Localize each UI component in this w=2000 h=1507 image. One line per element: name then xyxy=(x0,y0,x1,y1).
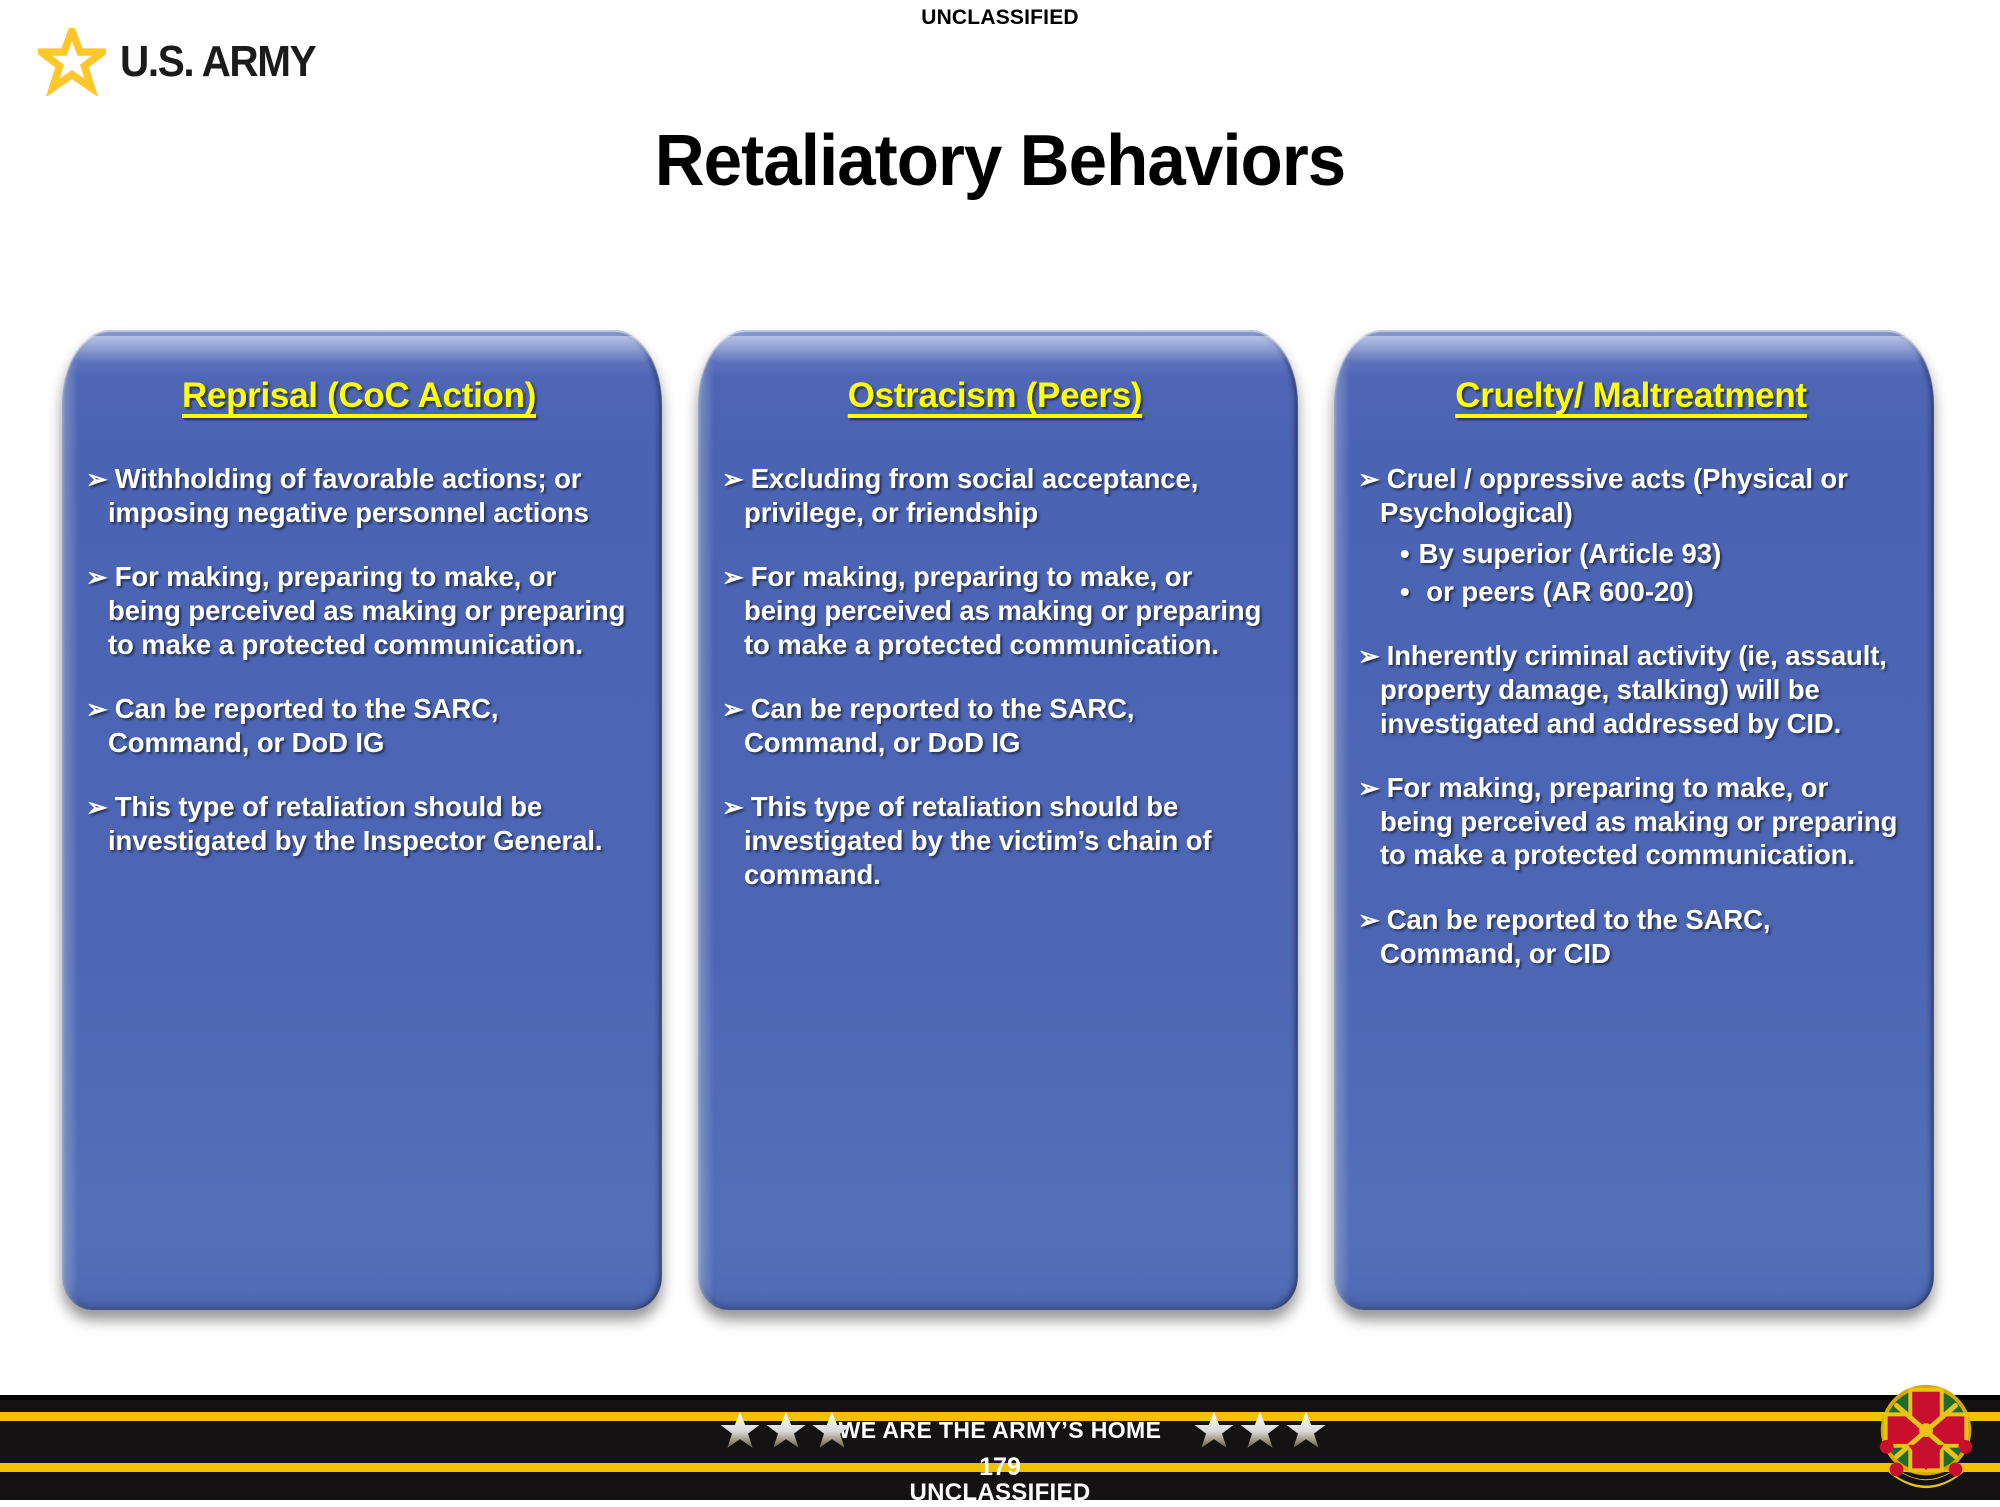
bullet-text: Can be reported to the SARC, Command, or… xyxy=(1380,904,1770,969)
arrow-bullet-icon: ➢ xyxy=(1358,905,1387,935)
list-item: ➢Inherently criminal activity (ie, assau… xyxy=(1358,639,1904,740)
arrow-bullet-icon: ➢ xyxy=(86,562,115,592)
bullet-text: This type of retaliation should be inves… xyxy=(744,791,1211,889)
panel-reprisal: Reprisal (CoC Action) ➢Withholding of fa… xyxy=(62,330,662,1310)
bullet-text: This type of retaliation should be inves… xyxy=(108,791,602,856)
classification-banner-top: UNCLASSIFIED xyxy=(0,6,2000,30)
arrow-bullet-icon: ➢ xyxy=(86,792,115,822)
list-item: ➢Can be reported to the SARC, Command, o… xyxy=(722,692,1268,759)
bullet-list-reprisal: ➢Withholding of favorable actions; or im… xyxy=(86,462,632,858)
arrow-bullet-icon: ➢ xyxy=(86,694,115,724)
list-item: ➢Can be reported to the SARC, Command, o… xyxy=(86,692,632,759)
panel-title-reprisal: Reprisal (CoC Action) xyxy=(86,376,632,416)
footer-band: WE ARE THE ARMY’S HOME 179 UNCLASSIFIED xyxy=(0,1395,2000,1500)
list-item: ➢Cruel / oppressive acts (Physical or Ps… xyxy=(1358,462,1904,529)
bullet-text: Can be reported to the SARC, Command, or… xyxy=(108,693,498,758)
panel-ostracism: Ostracism (Peers) ➢Excluding from social… xyxy=(698,330,1298,1310)
list-item: ➢Withholding of favorable actions; or im… xyxy=(86,462,632,529)
star-icon xyxy=(764,1409,808,1453)
dot-bullet-icon: • xyxy=(1400,538,1419,569)
bullet-list-ostracism: ➢Excluding from social acceptance, privi… xyxy=(722,462,1268,891)
panel-cruelty-maltreatment: Cruelty/ Maltreatment ➢Cruel / oppressiv… xyxy=(1334,330,1934,1310)
sub-list-item: •By superior (Article 93) xyxy=(1400,537,1904,571)
panels-container: Reprisal (CoC Action) ➢Withholding of fa… xyxy=(62,330,1942,1310)
panel-title-cruelty-maltreatment: Cruelty/ Maltreatment xyxy=(1358,376,1904,416)
page-title: Retaliatory Behaviors xyxy=(40,120,1960,202)
list-item: ➢For making, preparing to make, or being… xyxy=(1358,771,1904,872)
slide-number: 179 xyxy=(0,1453,2000,1482)
arrow-bullet-icon: ➢ xyxy=(1358,773,1387,803)
list-item: ➢This type of retaliation should be inve… xyxy=(722,790,1268,891)
arrow-bullet-icon: ➢ xyxy=(722,694,751,724)
bullet-text: Inherently criminal activity (ie, assaul… xyxy=(1380,640,1887,738)
star-icon xyxy=(718,1409,762,1453)
footer-stars-left xyxy=(718,1409,854,1453)
sub-bullet-text: By superior (Article 93) xyxy=(1419,538,1722,569)
arrow-bullet-icon: ➢ xyxy=(1358,641,1387,671)
bullet-text: Can be reported to the SARC, Command, or… xyxy=(744,693,1134,758)
dot-bullet-icon: • xyxy=(1400,576,1419,607)
arrow-bullet-icon: ➢ xyxy=(722,464,751,494)
bullet-text: For making, preparing to make, or being … xyxy=(1380,772,1897,870)
star-icon xyxy=(1192,1409,1236,1453)
bullet-list-cruelty: ➢Cruel / oppressive acts (Physical or Ps… xyxy=(1358,462,1904,970)
list-item: ➢Can be reported to the SARC, Command, o… xyxy=(1358,903,1904,970)
star-icon xyxy=(810,1409,854,1453)
classification-banner-bottom: UNCLASSIFIED xyxy=(0,1479,2000,1507)
sub-list-item: • or peers (AR 600-20) xyxy=(1400,575,1904,609)
army-logo: U.S. ARMY xyxy=(38,28,332,96)
list-item: ➢Excluding from social acceptance, privi… xyxy=(722,462,1268,529)
bullet-text: Cruel / oppressive acts (Physical or Psy… xyxy=(1380,463,1848,528)
army-wordmark: U.S. ARMY xyxy=(120,37,315,87)
bullet-text: Excluding from social acceptance, privil… xyxy=(744,463,1198,528)
star-icon xyxy=(1284,1409,1328,1453)
bullet-text: For making, preparing to make, or being … xyxy=(744,561,1261,659)
army-star-icon xyxy=(38,28,106,96)
bullet-text: Withholding of favorable actions; or imp… xyxy=(108,463,589,528)
footer-top-edge xyxy=(0,1395,2000,1400)
arrow-bullet-icon: ➢ xyxy=(1358,464,1387,494)
arrow-bullet-icon: ➢ xyxy=(722,562,751,592)
sub-bullet-text: or peers (AR 600-20) xyxy=(1419,576,1694,607)
list-item: ➢For making, preparing to make, or being… xyxy=(86,560,632,661)
arrow-bullet-icon: ➢ xyxy=(722,792,751,822)
list-item: ➢For making, preparing to make, or being… xyxy=(722,560,1268,661)
arrow-bullet-icon: ➢ xyxy=(86,464,115,494)
footer-stars-right xyxy=(1192,1409,1328,1453)
imcom-crest-icon xyxy=(1866,1376,1986,1494)
list-item: ➢This type of retaliation should be inve… xyxy=(86,790,632,857)
panel-title-ostracism: Ostracism (Peers) xyxy=(722,376,1268,416)
footer-tagline: WE ARE THE ARMY’S HOME xyxy=(0,1417,2000,1444)
star-icon xyxy=(1238,1409,1282,1453)
bullet-text: For making, preparing to make, or being … xyxy=(108,561,625,659)
